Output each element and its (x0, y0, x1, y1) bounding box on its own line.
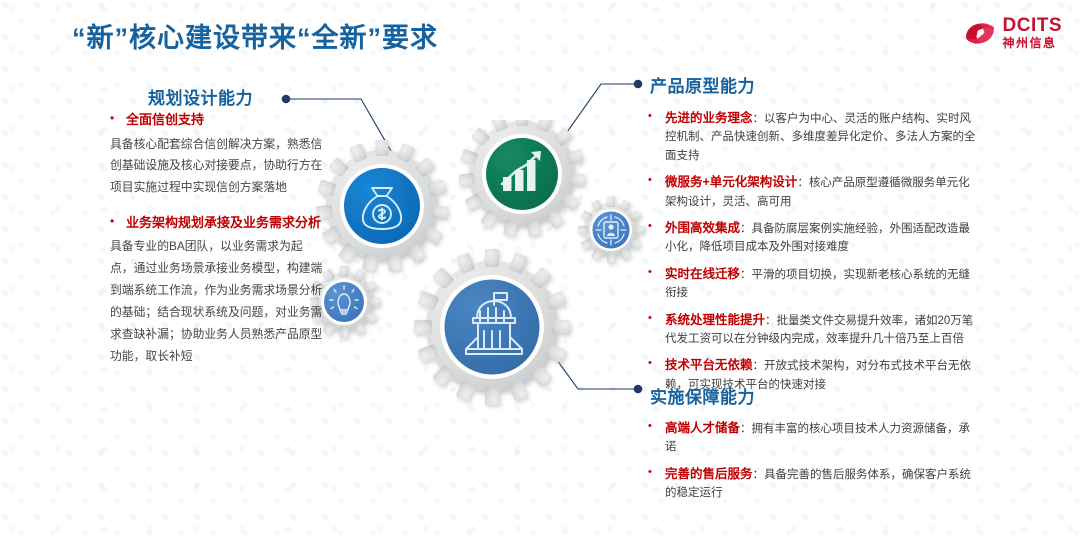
bullet-title: 实时在线迁移 (665, 267, 740, 281)
list-item: • 系统处理性能提升：批量类文件交易提升效率，诸如20万笔代发工资可以在分钟级内… (648, 310, 978, 349)
bullet-title: 系统处理性能提升 (665, 313, 765, 327)
bullet-title: 微服务+单元化架构设计 (665, 175, 797, 189)
right-column-2-content: • 高端人才储备：拥有丰富的核心项目技术人力资源储备，承诺 • 完善的售后服务：… (648, 418, 978, 510)
bullet-separator: ： (740, 423, 752, 435)
bullet-dot-icon: • (648, 264, 657, 303)
brand-logo: DCITS 神州信息 (963, 16, 1063, 49)
right-column-1-content: • 先进的业务理念：以客户为中心、灵活的账户结构、实时风控机制、产品快速创新、多… (648, 108, 978, 401)
right-column-2-heading: 实施保障能力 (650, 383, 755, 408)
bullet-text: 微服务+单元化架构设计：核心产品原型遵循微服务单元化架构设计，灵活、高可用 (665, 172, 978, 211)
bullet-separator: ： (753, 360, 765, 372)
bullet-separator: ： (753, 469, 765, 481)
bullet-dot-icon: • (110, 213, 119, 233)
bullet-dot-icon: • (648, 310, 657, 349)
list-item: • 业务架构规划承接及业务需求分析 具备专业的BA团队，以业务需求为起点，通过业… (110, 213, 325, 367)
list-item: • 微服务+单元化架构设计：核心产品原型遵循微服务单元化架构设计，灵活、高可用 (648, 172, 978, 211)
bullet-body: 具备专业的BA团队，以业务需求为起点，通过业务场景承接业务模型，构建端到端系统工… (110, 236, 325, 367)
bullet-text: 实时在线迁移：平滑的项目切换，实现新老核心系统的无缝衔接 (665, 264, 978, 303)
list-item: • 高端人才储备：拥有丰富的核心项目技术人力资源储备，承诺 (648, 418, 978, 457)
bullet-dot-icon: • (648, 464, 657, 503)
bullet-title: 技术平台无依赖 (665, 358, 753, 372)
bullet-title: 完善的售后服务 (665, 467, 753, 481)
bullet-separator: ： (753, 113, 765, 125)
bullet-title: 高端人才储备 (665, 421, 740, 435)
bullet-dot-icon: • (648, 418, 657, 457)
bullet-body: 具备核心配套综合信创解决方案，熟悉信创基础设施及核心对接要点，协助行方在项目实施… (110, 134, 325, 199)
list-item: • 外围高效集成：具备防腐层案例实施经验，外围适配改造最小化，降低项目成本及外围… (648, 218, 978, 257)
bullet-text: 系统处理性能提升：批量类文件交易提升效率，诸如20万笔代发工资可以在分钟级内完成… (665, 310, 978, 349)
list-item: • 先进的业务理念：以客户为中心、灵活的账户结构、实时风控机制、产品快速创新、多… (648, 108, 978, 165)
bullet-separator: ： (740, 269, 752, 281)
bullet-text: 高端人才储备：拥有丰富的核心项目技术人力资源储备，承诺 (665, 418, 978, 457)
list-item: • 实时在线迁移：平滑的项目切换，实现新老核心系统的无缝衔接 (648, 264, 978, 303)
left-column-content: • 全面信创支持 具备核心配套综合信创解决方案，熟悉信创基础设施及核心对接要点，… (110, 110, 325, 381)
bank-building-gear (414, 249, 570, 405)
logo-name-cn: 神州信息 (1003, 37, 1063, 49)
right-column-1-heading: 产品原型能力 (650, 72, 755, 97)
bullet-dot-icon: • (648, 108, 657, 165)
page-title: “新”核心建设带来“全新”要求 (72, 16, 438, 55)
leader-dot-left (282, 95, 291, 104)
list-item: • 完善的售后服务：具备完善的售后服务体系，确保客户系统的稳定运行 (648, 464, 978, 503)
bullet-separator: ： (765, 315, 777, 327)
bullet-dot-icon: • (648, 172, 657, 211)
bullet-text: 完善的售后服务：具备完善的售后服务体系，确保客户系统的稳定运行 (665, 464, 978, 503)
bullet-separator: ： (740, 223, 752, 235)
bullet-title: 业务架构规划承接及业务需求分析 (126, 213, 321, 233)
gear-cluster-graphic (310, 120, 650, 420)
money-bag-gear (316, 140, 449, 272)
leader-dot-top-right (634, 80, 643, 89)
bullet-text: 外围高效集成：具备防腐层案例实施经验，外围适配改造最小化，降低项目成本及外围对接… (665, 218, 978, 257)
bullet-text: 先进的业务理念：以客户为中心、灵活的账户结构、实时风控机制、产品快速创新、多维度… (665, 108, 978, 165)
logo-name-en: DCITS (1003, 16, 1063, 35)
bullet-title: 先进的业务理念 (665, 111, 753, 125)
person-target-gear (578, 197, 644, 263)
left-column-heading: 规划设计能力 (148, 84, 253, 109)
list-item: • 全面信创支持 具备核心配套综合信创解决方案，熟悉信创基础设施及核心对接要点，… (110, 110, 325, 199)
bullet-dot-icon: • (648, 218, 657, 257)
slide-canvas: “新”核心建设带来“全新”要求 DCITS 神州信息 (0, 0, 1080, 540)
bullet-dot-icon: • (110, 110, 119, 130)
bullet-title: 外围高效集成 (665, 221, 740, 235)
bullet-title: 全面信创支持 (126, 110, 204, 130)
growth-chart-gear (459, 120, 586, 237)
swirl-logo-icon (963, 18, 997, 48)
bullet-separator: ： (797, 177, 809, 189)
